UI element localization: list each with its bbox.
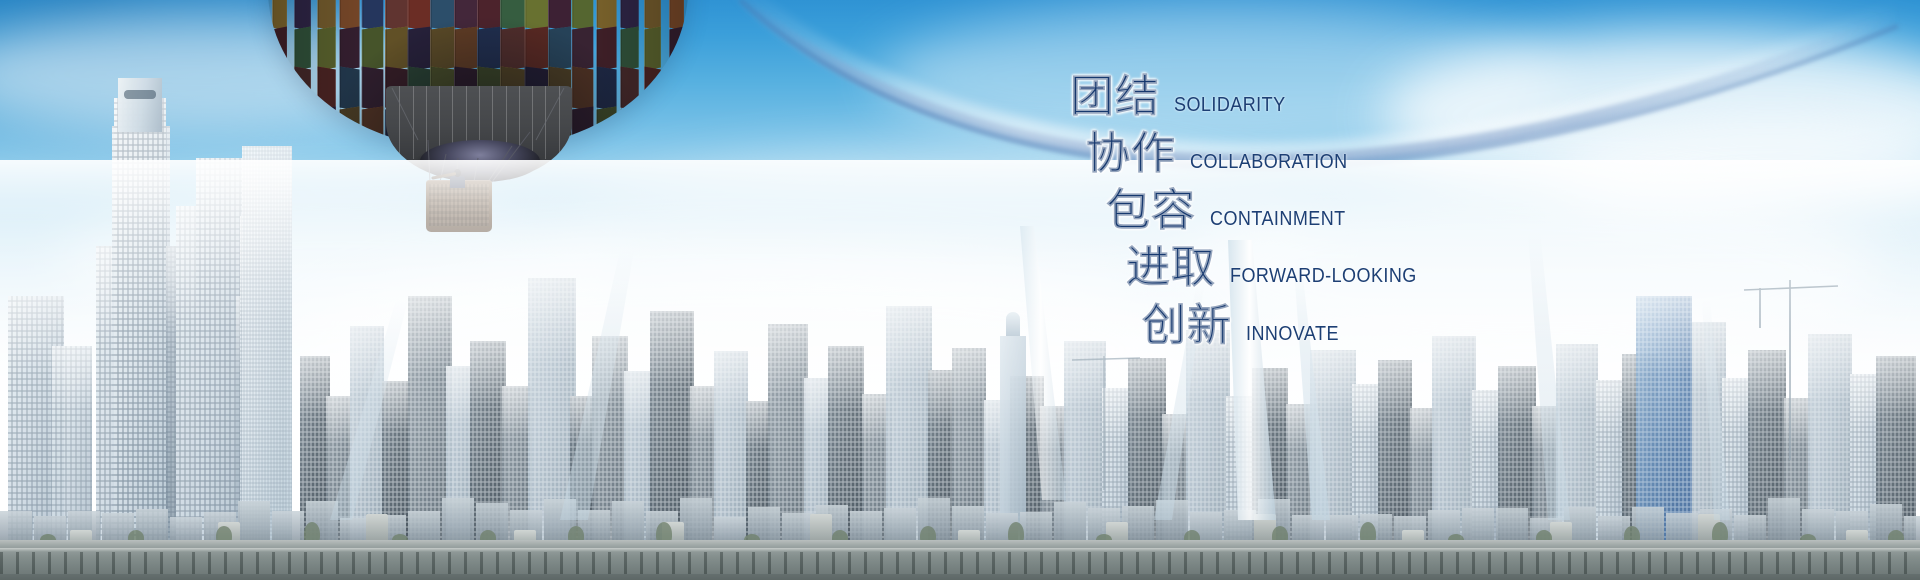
slogan-list: 团结SOLIDARITY协作COLLABORATION包容CONTAINMENT…	[1070, 72, 1630, 358]
slogan-chinese: 进取	[1126, 243, 1216, 293]
slogan-english: FORWARD-LOOKING	[1230, 265, 1417, 288]
slogan-chinese: 包容	[1106, 186, 1196, 236]
slogan-english: CONTAINMENT	[1210, 208, 1346, 231]
bridge-truss	[0, 552, 1920, 574]
glass-pylons	[0, 0, 1920, 580]
slogan-chinese: 创新	[1142, 301, 1232, 351]
slogan-english: INNOVATE	[1246, 323, 1339, 346]
values-banner: 团结SOLIDARITY协作COLLABORATION包容CONTAINMENT…	[0, 0, 1920, 580]
slogan-row: 创新INNOVATE	[1142, 301, 1630, 351]
slogan-row: 进取FORWARD-LOOKING	[1126, 243, 1630, 293]
slogan-english: SOLIDARITY	[1174, 94, 1286, 117]
slogan-row: 协作COLLABORATION	[1086, 129, 1630, 179]
waterfront-bridge	[0, 540, 1920, 580]
slogan-chinese: 协作	[1086, 129, 1176, 179]
slogan-row: 团结SOLIDARITY	[1070, 72, 1630, 122]
slogan-english: COLLABORATION	[1190, 151, 1348, 174]
slogan-chinese: 团结	[1070, 72, 1160, 122]
slogan-row: 包容CONTAINMENT	[1106, 186, 1630, 236]
